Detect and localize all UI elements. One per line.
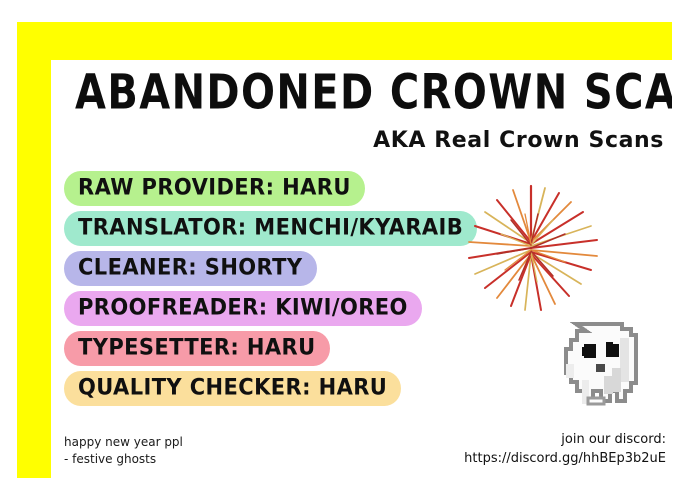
credit-pill-translator: TRANSLATOR: MENCHI/KYARAIB — [64, 211, 477, 246]
credit-pill-typesetter: TYPESETTER: HARU — [64, 331, 330, 366]
discord-label: join our discord: — [464, 430, 666, 449]
page-title: ABANDONED CROWN SCANS — [75, 65, 614, 121]
credit-row: CLEANER: SHORTY — [64, 252, 494, 292]
credits-list: RAW PROVIDER: HARUTRANSLATOR: MENCHI/KYA… — [64, 172, 494, 412]
credit-pill-raw-provider: RAW PROVIDER: HARU — [64, 171, 365, 206]
credits-page: ABANDONED CROWN SCANS AKA Real Crown Sca… — [0, 0, 690, 500]
credit-pill-proofreader: PROOFREADER: KIWI/OREO — [64, 291, 422, 326]
white-content-panel: ABANDONED CROWN SCANS AKA Real Crown Sca… — [51, 60, 672, 484]
credit-pill-quality-checker: QUALITY CHECKER: HARU — [64, 371, 401, 406]
footer-note-line1: happy new year ppl — [64, 434, 183, 451]
discord-info: join our discord: https://discord.gg/hhB… — [464, 430, 666, 468]
yellow-border-frame: ABANDONED CROWN SCANS AKA Real Crown Sca… — [17, 22, 672, 478]
footer-note-line2: - festive ghosts — [64, 451, 183, 468]
credit-row: TYPESETTER: HARU — [64, 332, 494, 372]
discord-url[interactable]: https://discord.gg/hhBEp3b2uE — [464, 449, 666, 468]
credit-row: QUALITY CHECKER: HARU — [64, 372, 494, 412]
credit-row: PROOFREADER: KIWI/OREO — [64, 292, 494, 332]
pixel-ghost-icon — [536, 290, 666, 420]
credit-row: RAW PROVIDER: HARU — [64, 172, 494, 212]
credit-pill-cleaner: CLEANER: SHORTY — [64, 251, 317, 286]
footer-note: happy new year ppl - festive ghosts — [64, 434, 183, 468]
credit-row: TRANSLATOR: MENCHI/KYARAIB — [64, 212, 494, 252]
page-subtitle: AKA Real Crown Scans — [373, 128, 664, 153]
